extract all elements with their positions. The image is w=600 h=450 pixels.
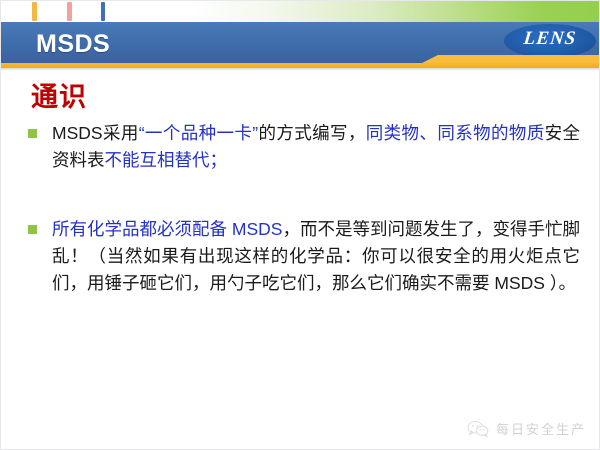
lens-logo: LENS	[504, 22, 596, 60]
slide-body: MSDS采用“一个品种一卡”的方式编写，同类物、同系物的物质安全资料表不能互相替…	[28, 120, 580, 297]
bullet-segment: 的方式编写，	[258, 123, 366, 143]
slide-header-title: MSDS	[36, 28, 110, 60]
green-square-bullet-icon	[28, 225, 37, 234]
bullet-segment: 不能互相替代；	[105, 150, 228, 170]
bullet-item: 所有化学品都必须配备 MSDS，而不是等到问题发生了，变得手忙脚乱！（当然如果有…	[28, 216, 580, 297]
green-square-bullet-icon	[28, 129, 37, 138]
pink-tick-icon	[67, 2, 72, 21]
blue-tick-icon	[101, 2, 105, 21]
logo-text: LENS	[503, 28, 597, 50]
orange-tick-icon	[32, 2, 37, 21]
bullet-segment: MSDS采用	[52, 123, 139, 143]
bullet-text: MSDS采用“一个品种一卡”的方式编写，同类物、同系物的物质安全资料表不能互相替…	[52, 120, 580, 174]
bullet-segment: 所有化学品都必须配备 MSDS	[52, 219, 282, 239]
watermark-text: 每日安全生产	[496, 419, 586, 438]
watermark: 每日安全生产	[467, 419, 586, 438]
bullet-item: MSDS采用“一个品种一卡”的方式编写，同类物、同系物的物质安全资料表不能互相替…	[28, 120, 580, 174]
header-drop-shadow	[0, 68, 600, 71]
bullet-segment: 同类物、同系物的物质	[366, 123, 545, 143]
presentation-slide: MSDS LENS 通识 MSDS采用“一个品种一卡”的方式编写，同类物、同系物…	[0, 0, 600, 450]
bullet-segment: “一个品种一卡”	[139, 123, 258, 143]
wechat-icon	[467, 420, 489, 438]
bullet-text: 所有化学品都必须配备 MSDS，而不是等到问题发生了，变得手忙脚乱！（当然如果有…	[52, 216, 580, 297]
top-strip-white-block	[0, 0, 104, 22]
section-title: 通识	[31, 80, 87, 114]
